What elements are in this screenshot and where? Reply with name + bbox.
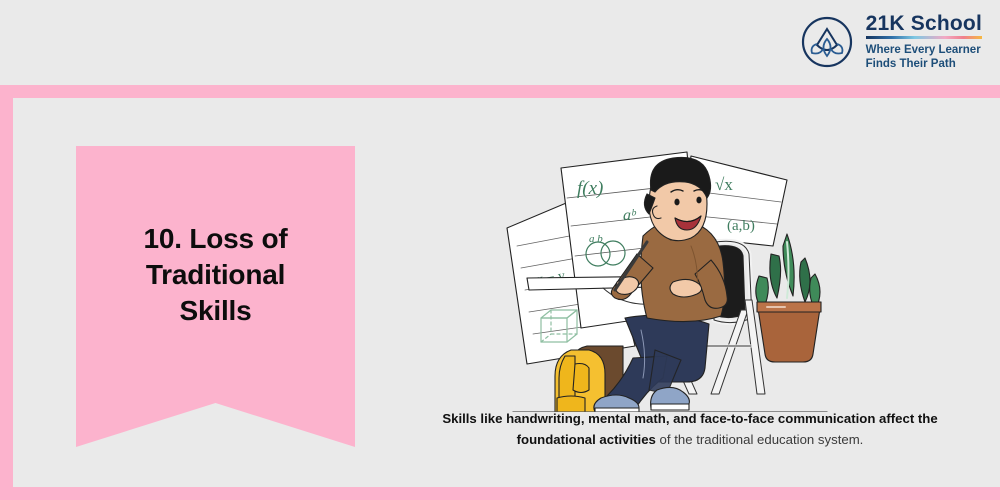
illustration-student-writing-at-desk: x − y	[505, 150, 835, 412]
title-ribbon-banner: 10. Loss of Traditional Skills	[76, 146, 355, 447]
caption-regular: of the traditional education system.	[656, 432, 863, 447]
paper-formula-a-b-pair: (a,b)	[727, 218, 755, 234]
caption-text: Skills like handwriting, mental math, an…	[415, 408, 965, 451]
title-line-3: Skills	[180, 295, 252, 326]
paper-formula-a-b-sets: a b	[589, 233, 603, 245]
brand-gradient-rule	[866, 36, 982, 39]
paper-formula-sqrt-x: √x	[715, 175, 733, 194]
tagline-line-1: Where Every Learner	[866, 44, 981, 56]
title-line-2: Traditional	[146, 259, 285, 290]
brand-logo: 21K School Where Every Learner Finds The…	[800, 13, 982, 71]
brand-name: 21K School	[866, 13, 982, 34]
title-line-1: 10. Loss of	[143, 223, 287, 254]
paper-formula-a-power-b: aᵇ	[623, 207, 637, 224]
lotus-circle-icon	[800, 15, 854, 69]
slide-canvas: 21K School Where Every Learner Finds The…	[0, 0, 1000, 500]
brand-tagline: Where Every Learner Finds Their Path	[866, 43, 982, 71]
paper-formula-f-of-x: f(x)	[577, 178, 603, 199]
frame-top-bar	[0, 85, 1000, 98]
frame-bottom-bar	[0, 487, 1000, 500]
potted-plant	[756, 234, 821, 362]
page-title: 10. Loss of Traditional Skills	[101, 221, 331, 328]
tagline-line-2: Finds Their Path	[866, 58, 956, 70]
header-bar: 21K School Where Every Learner Finds The…	[0, 0, 1000, 85]
frame-left-bar	[0, 85, 13, 500]
brand-text: 21K School Where Every Learner Finds The…	[866, 13, 982, 71]
